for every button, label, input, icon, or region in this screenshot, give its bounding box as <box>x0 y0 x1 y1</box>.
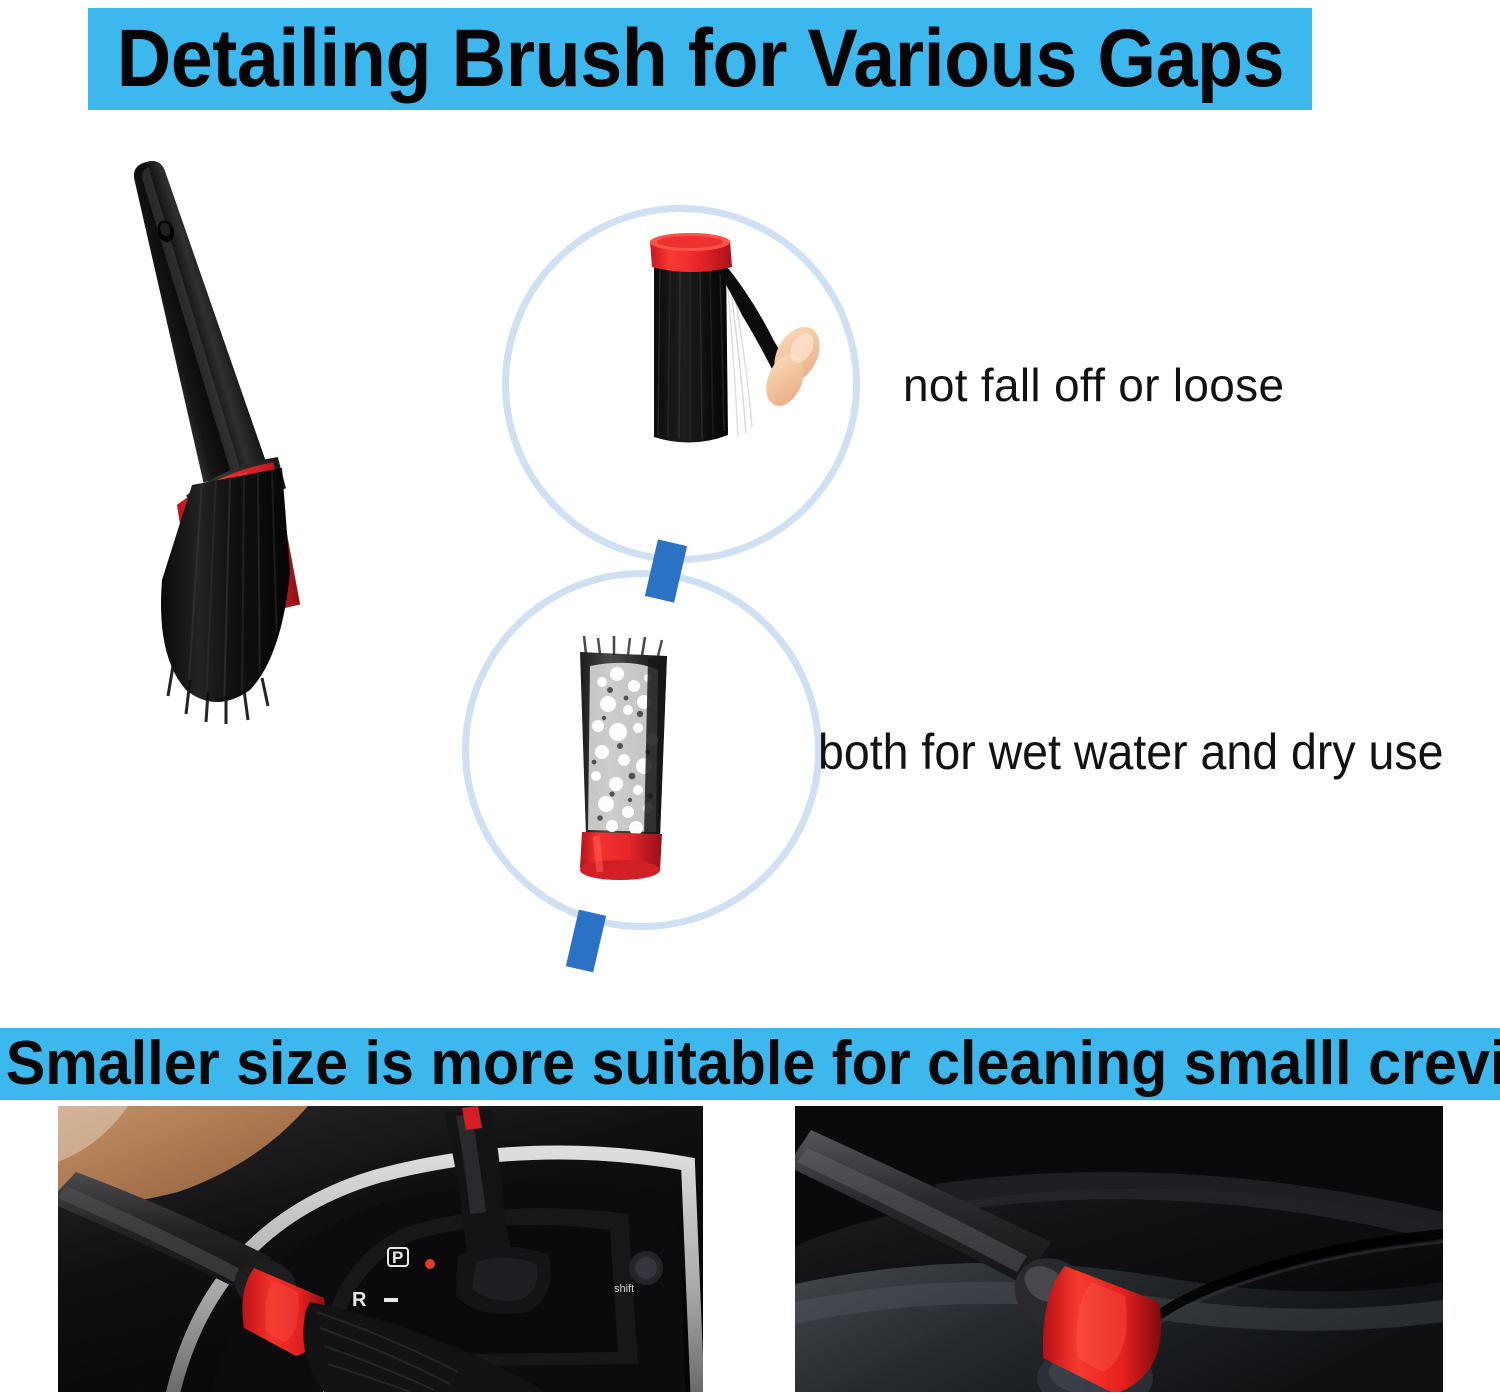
product-infographic: Detailing Brush for Various Gaps <box>0 0 1500 1396</box>
photo-seat-crevice <box>795 1106 1443 1392</box>
gear-label-r: R <box>352 1289 367 1311</box>
feature-label-wet-dry: both for wet water and dry use <box>818 727 1444 777</box>
svg-text:shift: shift <box>614 1283 634 1295</box>
brush-handle <box>130 153 267 483</box>
bottom-banner: Smaller size is more suitable for cleani… <box>0 1028 1500 1100</box>
bottom-banner-text: Smaller size is more suitable for cleani… <box>0 1033 1500 1095</box>
title-banner: Detailing Brush for Various Gaps <box>88 8 1312 110</box>
callout-ring-top <box>502 205 860 563</box>
callout-circle-wet-dry <box>462 570 822 930</box>
gear-label-p: P <box>392 1248 403 1267</box>
main-product-image <box>130 140 390 980</box>
connector-tick-bottom <box>566 910 606 973</box>
brush-illustration <box>130 140 390 980</box>
feature-label-no-shed: not fall off or loose <box>903 362 1284 408</box>
callout-ring-bottom <box>462 570 822 930</box>
callout-circle-no-shed <box>502 205 860 563</box>
page-title: Detailing Brush for Various Gaps <box>116 18 1283 100</box>
photo-gear-shifter: P R L shift <box>58 1106 703 1392</box>
